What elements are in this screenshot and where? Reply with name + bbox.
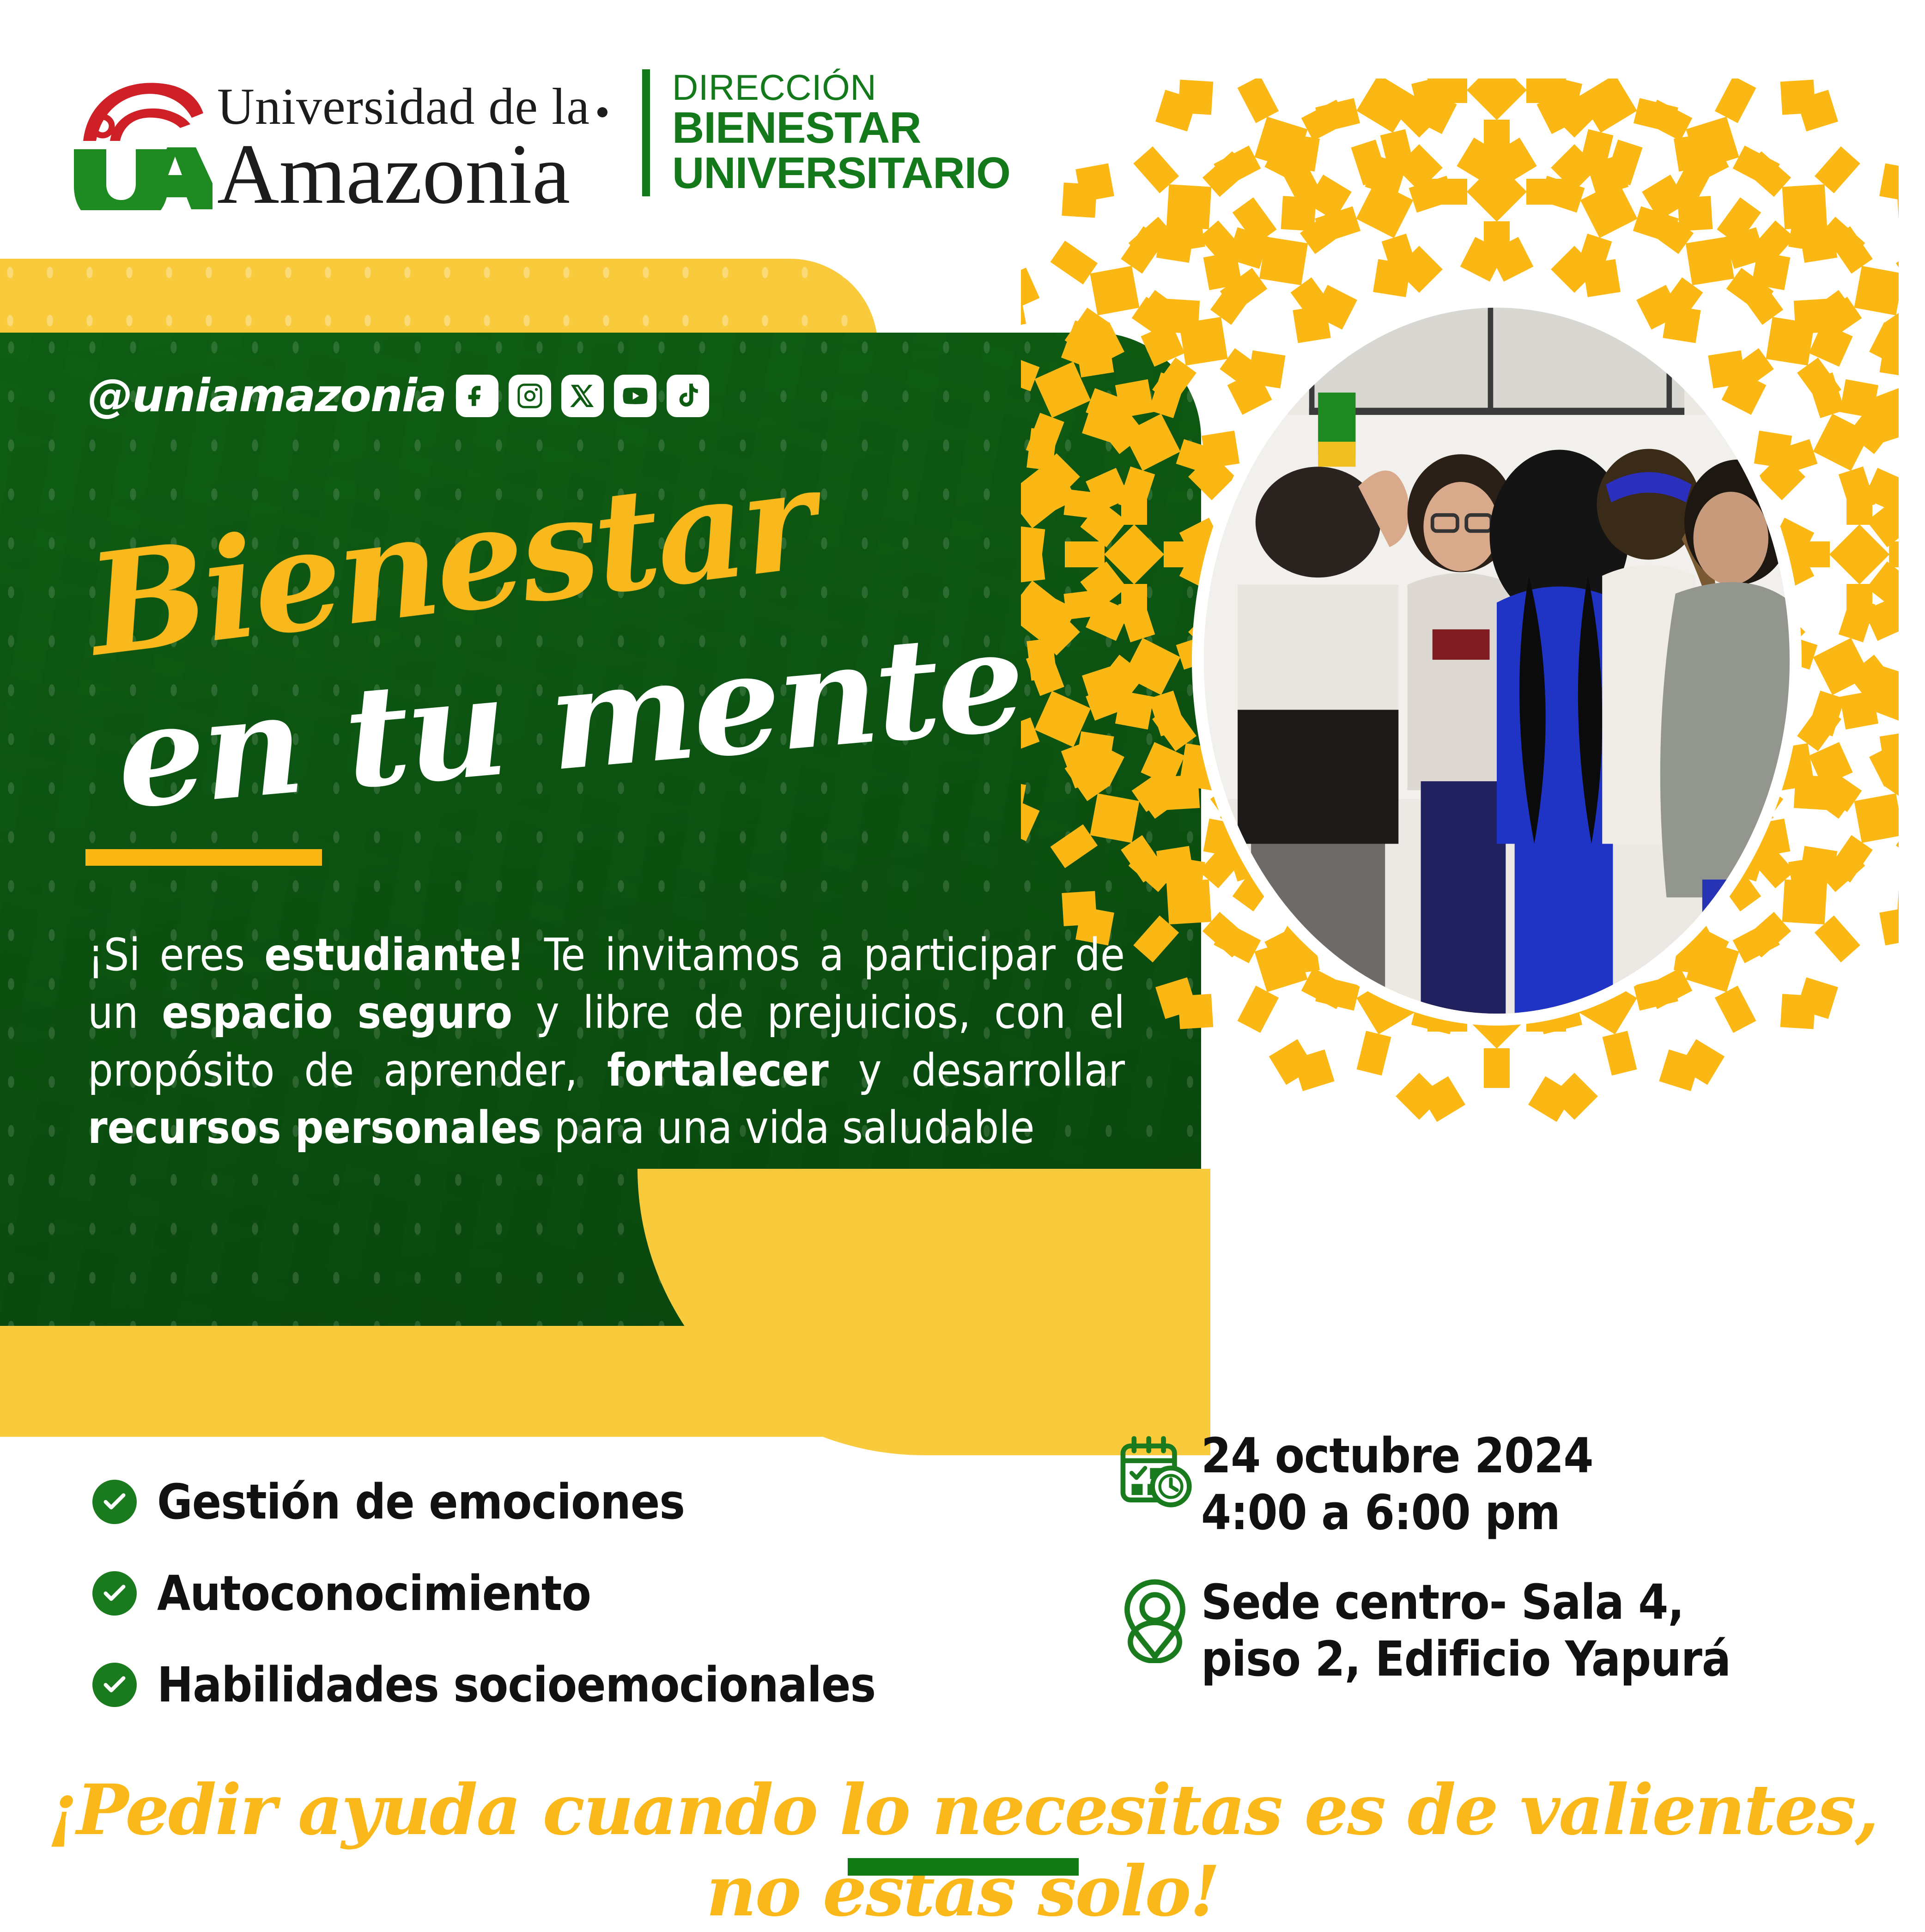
location-line-1: Sede centro- Sala 4, xyxy=(1201,1574,1684,1630)
body-emphasis: espacio seguro xyxy=(162,987,512,1039)
location-line-2: piso 2, Edificio Yapurá xyxy=(1201,1631,1731,1687)
topic-label: Habilidades socioemocionales xyxy=(157,1657,875,1713)
event-time: 4:00 a 6:00 pm xyxy=(1201,1484,1560,1541)
youtube-icon[interactable] xyxy=(614,375,656,417)
list-item: Autoconocimiento xyxy=(92,1565,875,1622)
tagline-underline-bar xyxy=(848,1858,1079,1876)
wordmark-dot xyxy=(597,107,607,117)
list-item: Habilidades socioemocionales xyxy=(92,1657,875,1713)
body-text: y desarrollar xyxy=(829,1045,1125,1096)
body-emphasis: recursos personales xyxy=(88,1102,541,1154)
body-paragraph: ¡Si eres estudiante! Te invitamos a part… xyxy=(88,926,1125,1157)
toucan-ua-logo xyxy=(69,72,213,210)
body-text: para una vida saludable xyxy=(541,1102,1035,1154)
department-line-direccion: DIRECCIÓN xyxy=(672,69,1010,105)
tiktok-icon[interactable] xyxy=(667,375,709,417)
calendar-clock-icon xyxy=(1109,1428,1201,1510)
x-twitter-icon[interactable] xyxy=(561,375,604,417)
facebook-icon[interactable] xyxy=(456,375,498,417)
title-underline xyxy=(85,849,322,866)
event-location-row: Sede centro- Sala 4, piso 2, Edificio Ya… xyxy=(1109,1574,1731,1687)
list-item: Gestión de emociones xyxy=(92,1474,875,1530)
topic-label: Gestión de emociones xyxy=(157,1474,685,1530)
yellow-bottom-strip xyxy=(0,1326,832,1437)
event-info: 24 octubre 2024 4:00 a 6:00 pm Sede cent… xyxy=(1109,1428,1731,1721)
department-line-universitario: UNIVERSITARIO xyxy=(672,151,1010,196)
check-circle-icon xyxy=(92,1663,137,1707)
social-handle: @uniamazonia xyxy=(88,370,446,422)
body-text: ¡Si eres xyxy=(88,929,264,981)
event-datetime: 24 octubre 2024 4:00 a 6:00 pm xyxy=(1201,1428,1593,1541)
check-circle-icon xyxy=(92,1480,137,1524)
topic-label: Autoconocimiento xyxy=(157,1565,591,1622)
event-date: 24 octubre 2024 xyxy=(1201,1428,1593,1484)
event-date-row: 24 octubre 2024 4:00 a 6:00 pm xyxy=(1109,1428,1731,1541)
header-divider xyxy=(642,69,650,196)
instagram-icon[interactable] xyxy=(509,375,551,417)
topics-list: Gestión de emociones Autoconocimiento Ha… xyxy=(92,1474,875,1748)
map-pin-icon xyxy=(1109,1574,1201,1663)
body-emphasis: fortalecer xyxy=(607,1045,829,1096)
closing-tagline: ¡Pedir ayuda cuando lo necesitas es de v… xyxy=(0,1769,1925,1932)
event-location: Sede centro- Sala 4, piso 2, Edificio Ya… xyxy=(1201,1574,1731,1687)
social-media-row: @uniamazonia xyxy=(88,370,709,422)
check-circle-icon xyxy=(92,1571,137,1616)
department-line-bienestar: BIENESTAR xyxy=(672,105,1010,151)
department-block: DIRECCIÓN BIENESTAR UNIVERSITARIO xyxy=(672,69,1010,196)
body-emphasis: estudiante! xyxy=(264,929,524,981)
university-wordmark: Universidad de la Amazonia xyxy=(217,81,607,215)
event-photo xyxy=(1192,296,1802,1026)
university-name-line2: Amazonia xyxy=(217,134,607,215)
